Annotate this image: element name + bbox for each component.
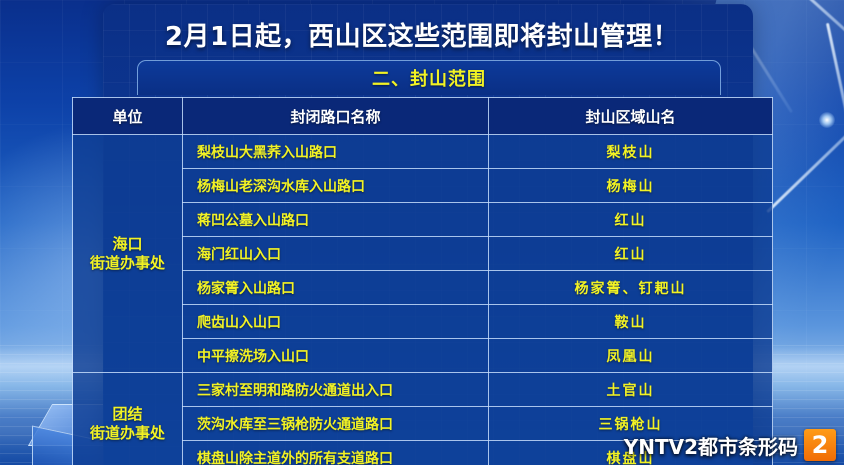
unit-line-1: 团结 bbox=[73, 405, 182, 424]
road-cell: 海门红山入口 bbox=[183, 237, 489, 271]
broadcast-screen: 2月1日起，西山区这些范围即将封山管理！ 二、封山范围 单位 封闭路口名称 封山… bbox=[0, 0, 844, 465]
column-header-road: 封闭路口名称 bbox=[183, 98, 489, 135]
column-header-mountain: 封山区域山名 bbox=[489, 98, 773, 135]
mountain-cell: 梨枝山 bbox=[489, 135, 773, 169]
mountain-cell: 鞍山 bbox=[489, 305, 773, 339]
road-cell: 茨沟水库至三锅枪防火通道路口 bbox=[183, 407, 489, 441]
mountain-cell: 杨家箐、钉耙山 bbox=[489, 271, 773, 305]
table-header-row: 单位 封闭路口名称 封山区域山名 bbox=[73, 98, 773, 135]
road-cell: 三家村至明和路防火通道出入口 bbox=[183, 373, 489, 407]
road-cell: 棋盘山除主道外的所有支道路口 bbox=[183, 441, 489, 465]
unit-line-2: 街道办事处 bbox=[73, 424, 182, 443]
road-cell: 爬齿山入山口 bbox=[183, 305, 489, 339]
closure-table: 单位 封闭路口名称 封山区域山名 海口 街道办事处 梨枝山大黑荞入山路口 梨枝山… bbox=[72, 97, 773, 465]
channel-logo: YNTV2都市条形码 2 bbox=[624, 429, 836, 461]
table-header: 单位 封闭路口名称 封山区域山名 bbox=[73, 98, 773, 135]
mountain-cell: 凤凰山 bbox=[489, 339, 773, 373]
channel-number-badge: 2 bbox=[804, 429, 836, 461]
mountain-cell: 杨梅山 bbox=[489, 169, 773, 203]
mountain-cell: 红山 bbox=[489, 237, 773, 271]
road-cell: 杨家箐入山路口 bbox=[183, 271, 489, 305]
road-cell: 蒋凹公墓入山路口 bbox=[183, 203, 489, 237]
road-cell: 梨枝山大黑荞入山路口 bbox=[183, 135, 489, 169]
unit-line-2: 街道办事处 bbox=[73, 254, 182, 273]
page-title: 2月1日起，西山区这些范围即将封山管理！ bbox=[0, 16, 844, 53]
table-row: 团结 街道办事处 三家村至明和路防火通道出入口 土官山 bbox=[73, 373, 773, 407]
section-title-label: 二、封山范围 bbox=[372, 65, 486, 91]
mountain-cell: 红山 bbox=[489, 203, 773, 237]
channel-name-label: YNTV2都市条形码 bbox=[624, 431, 798, 460]
table-row: 海口 街道办事处 梨枝山大黑荞入山路口 梨枝山 bbox=[73, 135, 773, 169]
unit-line-1: 海口 bbox=[73, 235, 182, 254]
mountain-cell: 土官山 bbox=[489, 373, 773, 407]
section-title-bar: 二、封山范围 bbox=[137, 60, 721, 95]
column-header-unit: 单位 bbox=[73, 98, 183, 135]
road-cell: 中平擦洗场入山口 bbox=[183, 339, 489, 373]
unit-cell-haikou: 海口 街道办事处 bbox=[73, 135, 183, 373]
prism-glow-point-icon bbox=[819, 112, 835, 128]
table-body: 海口 街道办事处 梨枝山大黑荞入山路口 梨枝山 杨梅山老深沟水库入山路口 杨梅山… bbox=[73, 135, 773, 465]
road-cell: 杨梅山老深沟水库入山路口 bbox=[183, 169, 489, 203]
unit-cell-tuanjie: 团结 街道办事处 bbox=[73, 373, 183, 465]
